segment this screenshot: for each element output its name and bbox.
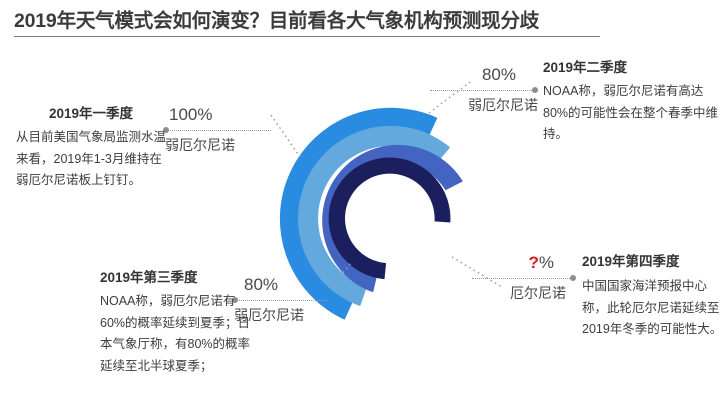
leader-q2 <box>430 86 538 95</box>
callout-heading-q2: 2019年二季度 <box>543 58 719 78</box>
unknown-value-question-mark: ? <box>528 253 538 272</box>
donut-ring-q4 <box>329 158 451 280</box>
value-label-q2: 弱厄尔尼诺 <box>430 95 538 116</box>
callout-heading-q3: 2019年第三季度 <box>100 268 258 288</box>
callout-body-q3: NOAA称，弱厄尔尼诺有60%的概率延续到夏季；日本气象厅称，有80%的概率延续… <box>100 291 258 377</box>
callout-heading-q4: 2019年第四季度 <box>582 252 724 272</box>
value-group-q2: 80% 弱厄尔尼诺 <box>430 64 538 116</box>
leader-q1 <box>163 126 275 135</box>
leader-line-q4 <box>472 278 572 279</box>
value-number-q4: ?% <box>472 252 576 274</box>
page-title: 2019年天气模式会如何演变？目前看各大气象机构预测现分歧 <box>14 8 714 34</box>
callout-q3: 2019年第三季度 NOAA称，弱厄尔尼诺有60%的概率延续到夏季；日本气象厅称… <box>100 268 258 377</box>
value-number-q4-suffix: % <box>539 253 554 272</box>
callout-q2: 2019年二季度 NOAA称，弱厄尔尼诺有高达80%的可能性会在整个春季中维持。 <box>543 58 719 146</box>
leader-dot-q4 <box>570 275 576 281</box>
value-label-q4: 厄尔尼诺 <box>472 283 576 304</box>
leader-dot-q2 <box>532 87 538 93</box>
title-bar: 2019年天气模式会如何演变？目前看各大气象机构预测现分歧 <box>14 8 714 34</box>
value-group-q1: 100% 弱厄尔尼诺 <box>163 104 275 156</box>
callout-body-q1: 从目前美国气象局监测水温来看，2019年1-3月维持在弱厄尔尼诺板上钉钉。 <box>16 127 166 192</box>
title-underline-rule <box>14 36 600 37</box>
callout-q4: 2019年第四季度 中国国家海洋预报中心称，此轮厄尔尼诺延续至2019年冬季的可… <box>582 252 724 341</box>
callout-heading-q1: 2019年一季度 <box>16 104 166 124</box>
value-group-q4: ?% 厄尔尼诺 <box>472 252 576 304</box>
value-number-q1: 100% <box>163 104 275 126</box>
value-number-q2: 80% <box>430 64 538 86</box>
leader-line-q2 <box>430 90 534 91</box>
callout-body-q2: NOAA称，弱厄尔尼诺有高达80%的可能性会在整个春季中维持。 <box>543 81 719 146</box>
leader-q4 <box>472 274 576 283</box>
callout-body-q4: 中国国家海洋预报中心称，此轮厄尔尼诺延续至2019年冬季的可能性大。 <box>582 276 724 341</box>
leader-line-q1 <box>163 130 271 131</box>
callout-q1: 2019年一季度 从目前美国气象局监测水温来看，2019年1-3月维持在弱厄尔尼… <box>16 104 166 192</box>
value-label-q1: 弱厄尔尼诺 <box>163 135 275 156</box>
